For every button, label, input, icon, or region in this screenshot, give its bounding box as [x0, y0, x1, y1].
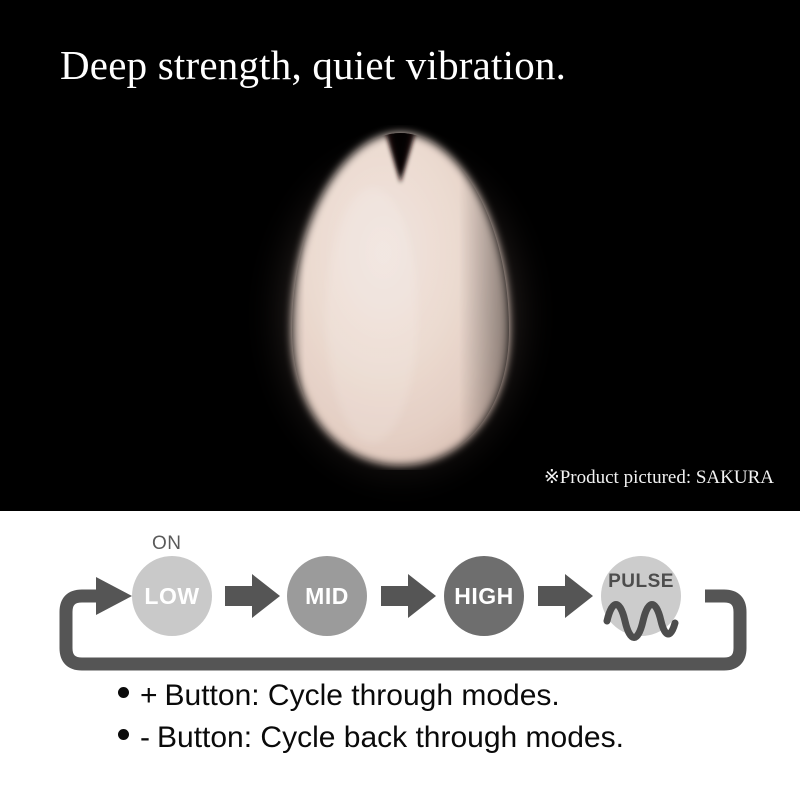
- list-item: - Button: Cycle back through modes.: [0, 721, 800, 755]
- instruction-list: + Button: Cycle through modes. - Button:…: [0, 679, 800, 763]
- mode-node-high-label: HIGH: [454, 583, 514, 609]
- mode-node-mid-label: MID: [305, 583, 349, 609]
- bullet-dot-icon: [118, 687, 129, 698]
- mode-node-low: LOW: [132, 556, 212, 636]
- product-caption: ※Product pictured: SAKURA: [544, 466, 774, 489]
- plus-button-symbol: +: [140, 679, 158, 713]
- mode-node-pulse-label: PULSE: [608, 571, 674, 592]
- bullet-dot-icon: [118, 729, 129, 740]
- mode-node-pulse: PULSE: [601, 556, 681, 638]
- list-item: + Button: Cycle through modes.: [0, 679, 800, 713]
- minus-button-symbol: -: [140, 721, 150, 755]
- instruction-text-plus: Button: Cycle through modes.: [165, 679, 560, 713]
- product-silhouette: [268, 125, 533, 470]
- mode-cycle-diagram: LOW MID HIGH: [0, 511, 800, 676]
- instruction-text-minus: Button: Cycle back through modes.: [157, 721, 624, 755]
- arrow-mid-to-high: [381, 574, 436, 618]
- product-photo: [268, 125, 533, 470]
- instructions-panel: ON LOW: [0, 511, 800, 800]
- product-feature-slide: Deep strength, quiet vibration.: [0, 0, 800, 800]
- mode-node-mid: MID: [287, 556, 367, 636]
- page-title: Deep strength, quiet vibration.: [60, 43, 760, 89]
- arrow-low-to-mid: [225, 574, 280, 618]
- mode-node-low-label: LOW: [144, 583, 199, 609]
- hero-section: Deep strength, quiet vibration.: [0, 0, 800, 511]
- mode-node-high: HIGH: [444, 556, 524, 636]
- arrow-high-to-pulse: [538, 574, 593, 618]
